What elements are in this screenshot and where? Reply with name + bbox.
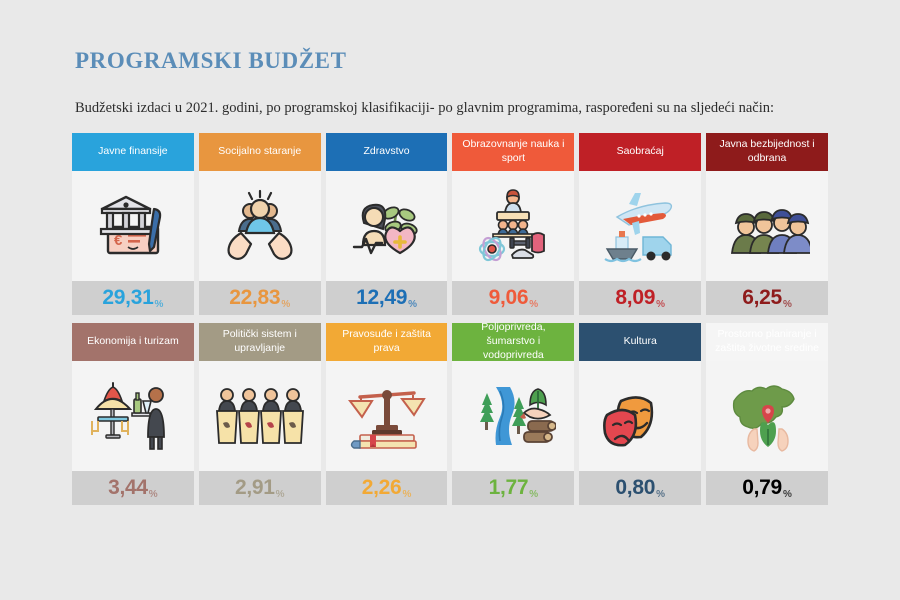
card-value-area: 22,83 % [199, 281, 321, 315]
card-value-area: 6,25 % [706, 281, 828, 315]
card-value-area: 0,80 % [579, 471, 701, 505]
card-icon-area [579, 361, 701, 471]
card-value-area: 2,91 % [199, 471, 321, 505]
percent-sign: % [529, 489, 538, 505]
program-card-grid: Javne finansije € [72, 133, 828, 505]
program-card[interactable]: Pravosuđe i zaštita prava [326, 323, 448, 505]
soldiers-police-icon [724, 189, 810, 263]
program-card[interactable]: Ekonomija i turizam [72, 323, 194, 505]
card-icon-area [199, 361, 321, 471]
card-row-1: Javne finansije € [72, 133, 828, 315]
plane-ship-truck-icon [599, 189, 681, 263]
card-icon-area [452, 171, 574, 281]
percent-value: 0,79 [742, 476, 782, 500]
hands-holding-people-icon [219, 189, 301, 263]
percent-sign: % [529, 299, 538, 315]
justice-scales-books-icon [346, 379, 428, 453]
percent-value: 2,26 [362, 476, 402, 500]
percent-value: 1,77 [489, 476, 529, 500]
program-card[interactable]: Obrazovnanje nauka i sport [452, 133, 574, 315]
card-header: Pravosuđe i zaštita prava [326, 323, 448, 361]
card-icon-area [579, 171, 701, 281]
card-icon-area: € [72, 171, 194, 281]
program-card[interactable]: Javne finansije € [72, 133, 194, 315]
card-icon-area [199, 171, 321, 281]
percent-sign: % [281, 299, 290, 315]
health-heart-plant-icon [346, 189, 428, 263]
cafe-umbrella-waiter-icon [90, 379, 176, 453]
percent-sign: % [402, 489, 411, 505]
percent-value: 2,91 [235, 476, 275, 500]
card-icon-area [706, 361, 828, 471]
card-header: Obrazovnanje nauka i sport [452, 133, 574, 171]
percent-sign: % [656, 489, 665, 505]
map-pin-hands-leaf-icon [724, 379, 810, 453]
speakers-podiums-icon [215, 379, 305, 453]
card-header: Politički sistem i upravljanje [199, 323, 321, 361]
card-header: Saobraćaj [579, 133, 701, 171]
percent-value: 9,06 [489, 286, 529, 310]
river-forest-logs-icon [470, 379, 556, 453]
card-icon-area [706, 171, 828, 281]
card-value-area: 3,44 % [72, 471, 194, 505]
percent-value: 0,80 [615, 476, 655, 500]
percent-value: 29,31 [102, 286, 153, 310]
card-header: Poljoprivreda, šumarstvo i vodoprivreda [452, 323, 574, 361]
program-card[interactable]: Javna bezbijednost i odbrana [706, 133, 828, 315]
card-header: Ekonomija i turizam [72, 323, 194, 361]
percent-sign: % [783, 299, 792, 315]
card-value-area: 1,77 % [452, 471, 574, 505]
education-science-sport-icon [472, 189, 554, 263]
percent-value: 8,09 [615, 286, 655, 310]
card-icon-area [452, 361, 574, 471]
bank-cheque-pen-icon: € [92, 189, 174, 263]
program-card[interactable]: Socijalno staranje [199, 133, 321, 315]
percent-sign: % [656, 299, 665, 315]
program-card[interactable]: Kultura [579, 323, 701, 505]
card-icon-area [326, 361, 448, 471]
card-header: Javne finansije [72, 133, 194, 171]
card-value-area: 8,09 % [579, 281, 701, 315]
percent-sign: % [154, 299, 163, 315]
infographic-page: PROGRAMSKI BUDŽET Budžetski izdaci u 202… [0, 0, 900, 600]
card-header: Zdravstvo [326, 133, 448, 171]
card-value-area: 29,31 % [72, 281, 194, 315]
percent-value: 3,44 [108, 476, 148, 500]
card-value-area: 9,06 % [452, 281, 574, 315]
card-header: Kultura [579, 323, 701, 361]
page-subtitle: Budžetski izdaci u 2021. godini, po prog… [75, 98, 828, 119]
percent-value: 12,49 [356, 286, 407, 310]
card-row-2: Ekonomija i turizam [72, 323, 828, 505]
percent-sign: % [783, 489, 792, 505]
card-header: Prostorno planiranje i zaštita životne s… [706, 323, 828, 361]
card-value-area: 0,79 % [706, 471, 828, 505]
program-card[interactable]: Prostorno planiranje i zaštita životne s… [706, 323, 828, 505]
program-card[interactable]: Zdravstvo [326, 133, 448, 315]
page-title: PROGRAMSKI BUDŽET [75, 48, 828, 74]
card-value-area: 12,49 % [326, 281, 448, 315]
card-header: Javna bezbijednost i odbrana [706, 133, 828, 171]
percent-sign: % [276, 489, 285, 505]
program-card[interactable]: Politički sistem i upravljanje [199, 323, 321, 505]
percent-value: 6,25 [742, 286, 782, 310]
card-value-area: 2,26 % [326, 471, 448, 505]
percent-value: 22,83 [229, 286, 280, 310]
percent-sign: % [408, 299, 417, 315]
program-card[interactable]: Poljoprivreda, šumarstvo i vodoprivreda [452, 323, 574, 505]
card-icon-area [326, 171, 448, 281]
theatre-masks-icon [599, 379, 681, 453]
program-card[interactable]: Saobraćaj [579, 133, 701, 315]
card-icon-area [72, 361, 194, 471]
card-header: Socijalno staranje [199, 133, 321, 171]
percent-sign: % [149, 489, 158, 505]
